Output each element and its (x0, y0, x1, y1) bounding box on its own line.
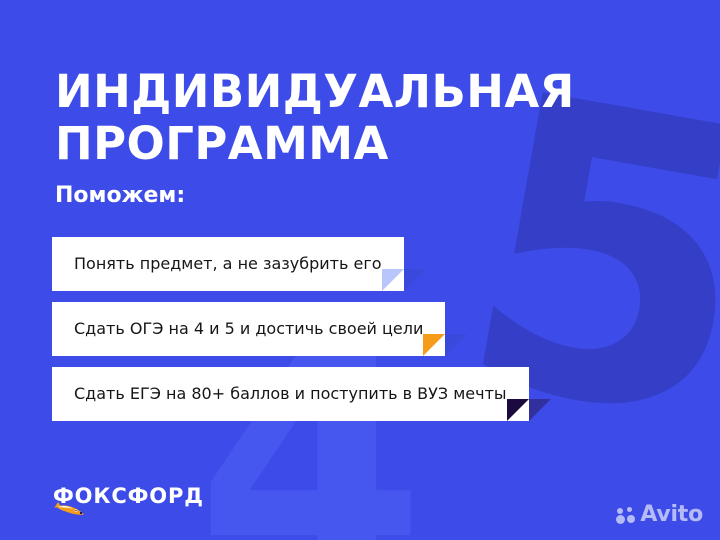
page-title: ИНДИВИДУАЛЬНАЯ ПРОГРАММА (55, 66, 675, 170)
benefit-card-list: Понять предмет, а не зазубрить его Сдать… (52, 237, 672, 432)
avito-dots-icon (616, 507, 635, 524)
card-shadow-flap (445, 334, 467, 356)
benefit-card: Сдать ОГЭ на 4 и 5 и достичь своей цели (52, 302, 445, 356)
fox-icon (53, 501, 85, 518)
benefit-card: Понять предмет, а не зазубрить его (52, 237, 404, 291)
subheading: Поможем: (55, 183, 185, 209)
card-shadow-flap (529, 399, 551, 421)
folded-corner-icon (382, 269, 404, 291)
benefit-card: Сдать ЕГЭ на 80+ баллов и поступить в ВУ… (52, 367, 529, 421)
benefit-card-label: Сдать ЕГЭ на 80+ баллов и поступить в ВУ… (74, 384, 507, 404)
promo-poster: 5 4 ИНДИВИДУАЛЬНАЯ ПРОГРАММА Поможем: По… (0, 0, 720, 540)
avito-watermark: Avito (616, 504, 703, 526)
avito-wordmark: Avito (640, 504, 703, 526)
benefit-card-label: Сдать ОГЭ на 4 и 5 и достичь своей цели (74, 319, 423, 339)
benefit-card-label: Понять предмет, а не зазубрить его (74, 254, 382, 274)
folded-corner-icon (507, 399, 529, 421)
folded-corner-icon (423, 334, 445, 356)
card-shadow-flap (404, 269, 426, 291)
